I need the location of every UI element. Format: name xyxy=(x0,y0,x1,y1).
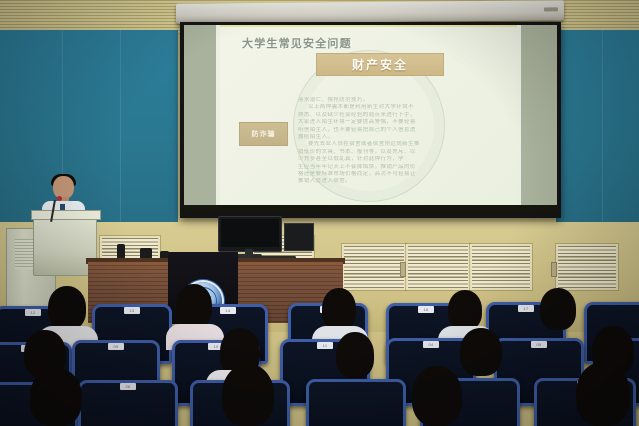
seat-number-tag: 09 xyxy=(108,343,124,350)
slide-body-line: 大家进入陌生环境一定要提高警惕，不要轻易 xyxy=(298,119,470,126)
slide-body-line: 听信陌生人，也不要轻易把自己的个人信息透 xyxy=(298,127,470,134)
slide-accent-heading-box: 财产安全 xyxy=(316,53,444,76)
audience-head xyxy=(448,290,482,330)
slide-body-line: 露给陌生人。 xyxy=(298,134,470,141)
vent-handle xyxy=(400,262,406,277)
housing-end-cap xyxy=(544,7,558,11)
slide-body-line: 熟悉、以及缺少社会经验的弱点来进行下手， xyxy=(298,112,470,119)
auditorium-seat xyxy=(306,379,406,426)
seat-number-tag: 12 xyxy=(25,309,41,316)
lecture-hall-photo: 大学生常见安全问题 财产安全 防诈骗 落水溺亡、搜抢防范技巧。 以上两种骗术都是… xyxy=(0,0,639,426)
wall-vent-grill xyxy=(470,244,532,290)
audience-head xyxy=(176,284,212,328)
presenter-head xyxy=(53,176,74,199)
seat-number-tag: 14 xyxy=(220,307,236,314)
desk-item xyxy=(117,244,125,259)
slide-side-label-box: 防诈骗 xyxy=(239,122,288,146)
slide-side-label-text: 防诈骗 xyxy=(252,129,276,139)
audience-head xyxy=(336,332,374,378)
monitor-screen xyxy=(221,219,279,247)
audience-head xyxy=(48,286,86,330)
slide-accent-heading-text: 财产安全 xyxy=(352,56,408,73)
wall-vent-grill xyxy=(342,244,406,290)
monitor-panel xyxy=(218,216,282,252)
seat-number-tag: 17 xyxy=(518,305,534,312)
audience-head xyxy=(30,368,82,426)
slide-body-line: 推销人员进入宿舍。 xyxy=(298,178,470,185)
seat-number-tag: 16 xyxy=(418,306,434,313)
slide-body-line: 以上两种骗术都是利用新生对大学环境不 xyxy=(298,104,470,111)
seat-number-tag: 13 xyxy=(124,307,140,314)
slide-body-line: 销低价的文具、书本、报刊等，以及充斥、以 xyxy=(298,149,470,156)
auditorium-seat: 06 xyxy=(78,380,178,426)
slide-top-rule xyxy=(220,25,517,27)
microphone-head xyxy=(57,196,62,201)
audience-head xyxy=(540,288,576,330)
audience-head xyxy=(222,364,274,426)
slide-title: 大学生常见安全问题 xyxy=(242,35,352,51)
slide-body-line: 格还是要标准市场价格而定，高次不可轻易让 xyxy=(298,171,470,178)
projection-side-band-right xyxy=(521,25,557,212)
screen-bottom-bar xyxy=(184,205,557,212)
seat-number-tag: 05 xyxy=(531,341,547,348)
audience-head xyxy=(576,362,630,426)
seat-number-tag: 11 xyxy=(317,342,333,349)
audience-area: 12 13 14 15 16 17 08 09 10 11 04 05 06 xyxy=(0,286,639,426)
teal-wall-left xyxy=(0,30,178,226)
slide-body-line: 生应当牢牢记天上不会掉馅饼，推销产品的价 xyxy=(298,164,470,171)
seat-number-tag: 04 xyxy=(423,341,439,348)
slide-body-line: 少充多甚至以假乱真，针对此种行为，学 xyxy=(298,156,470,163)
projection-screen: 大学生常见安全问题 财产安全 防诈骗 落水溺亡、搜抢防范技巧。 以上两种骗术都是… xyxy=(180,22,561,218)
slide-body-text: 落水溺亡、搜抢防范技巧。 以上两种骗术都是利用新生对大学环境不 熟悉、以及缺少社… xyxy=(298,97,470,186)
slide-body-line: 要先去业人员在宿舍或者宿舍附近向新生推 xyxy=(298,141,470,148)
secondary-display xyxy=(284,223,314,251)
wall-vent-grill xyxy=(556,244,618,290)
slide-body-line: 落水溺亡、搜抢防范技巧。 xyxy=(298,97,470,104)
audience-head xyxy=(412,366,462,426)
desktop-monitor xyxy=(218,216,280,254)
presentation-slide: 大学生常见安全问题 财产安全 防诈骗 落水溺亡、搜抢防范技巧。 以上两种骗术都是… xyxy=(220,25,517,205)
projection-side-band-left xyxy=(184,25,216,212)
projector-screen-housing xyxy=(176,0,564,23)
audience-head xyxy=(322,288,356,330)
wall-vent-grill xyxy=(406,244,470,290)
vent-handle xyxy=(551,262,557,277)
audience-head xyxy=(460,328,502,376)
teal-wall-right xyxy=(556,30,639,226)
seat-number-tag: 06 xyxy=(120,383,136,390)
lectern-top-surface xyxy=(31,210,101,220)
screen-surface: 大学生常见安全问题 财产安全 防诈骗 落水溺亡、搜抢防范技巧。 以上两种骗术都是… xyxy=(184,25,557,212)
